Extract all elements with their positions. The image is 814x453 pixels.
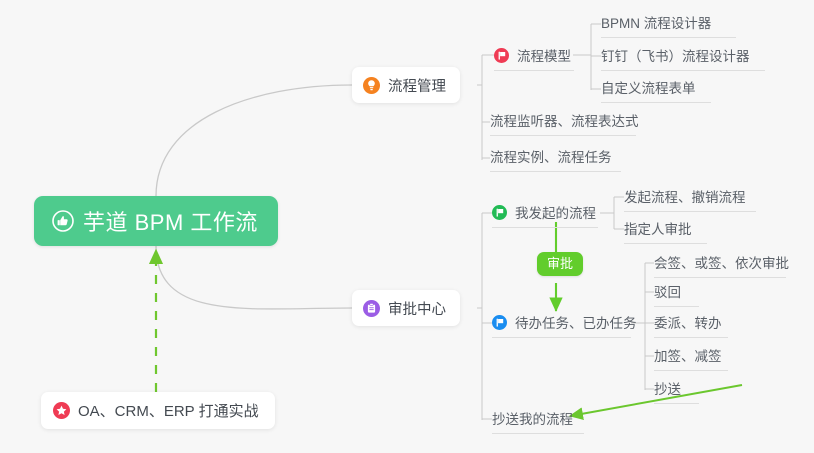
thumbs-up-icon [52,210,74,232]
leaf-label-countersign: 会签、或签、依次审批 [654,252,789,272]
leaf-process-model[interactable]: 流程模型 [494,45,574,71]
connector-root-to-process [156,85,352,196]
root-label: 芋道 BPM 工作流 [83,205,258,237]
leaf-carbon-copy[interactable]: 抄送 [654,378,699,404]
leaf-label-todo-done-tasks: 待办任务、已办任务 [515,312,637,332]
root-node[interactable]: 芋道 BPM 工作流 [34,196,278,246]
leaf-process-instance[interactable]: 流程实例、流程任务 [490,146,621,172]
annotation-approve-label: 审批 [537,252,583,276]
leaf-start-cancel-process[interactable]: 发起流程、撤销流程 [624,186,756,212]
leaf-label-my-initiated: 我发起的流程 [515,202,596,222]
branch-label-process-management: 流程管理 [388,75,446,96]
leaf-label-process-model: 流程模型 [517,45,571,65]
leaf-countersign[interactable]: 会签、或签、依次审批 [654,252,786,278]
leaf-label-assigned-approver: 指定人审批 [624,218,692,238]
leaf-my-initiated[interactable]: 我发起的流程 [492,202,598,228]
leaf-label-carbon-copy: 抄送 [654,378,681,398]
leaf-label-process-instance: 流程实例、流程任务 [490,146,612,166]
leaf-reject[interactable]: 驳回 [654,281,699,307]
flag-icon-blue [492,315,507,330]
branch-node-process-management[interactable]: 流程管理 [352,67,460,103]
leaf-label-dingtalk-designer: 钉钉（飞书）流程设计器 [601,45,750,65]
leaf-label-cc-to-me: 抄送我的流程 [492,408,573,428]
leaf-bpmn-designer[interactable]: BPMN 流程设计器 [601,12,736,38]
leaf-label-process-listener: 流程监听器、流程表达式 [490,110,639,130]
leaf-label-start-cancel-process: 发起流程、撤销流程 [624,186,746,206]
floating-label-integration-practice: OA、CRM、ERP 打通实战 [78,400,259,421]
leaf-label-custom-form: 自定义流程表单 [601,77,696,97]
star-icon [53,402,70,419]
branch-label-approval-center: 审批中心 [388,298,446,319]
leaf-custom-form[interactable]: 自定义流程表单 [601,77,711,103]
flag-icon-red [494,48,509,63]
annotation-approve-text: 审批 [547,256,573,271]
leaf-label-bpmn-designer: BPMN 流程设计器 [601,12,711,32]
leaf-label-reject: 驳回 [654,281,681,301]
leaf-label-add-remove-sign: 加签、减签 [654,345,722,365]
leaf-assigned-approver[interactable]: 指定人审批 [624,218,707,244]
clipboard-icon [363,300,380,317]
leaf-process-listener[interactable]: 流程监听器、流程表达式 [490,110,636,136]
branch-node-approval-center[interactable]: 审批中心 [352,290,460,326]
leaf-todo-done-tasks[interactable]: 待办任务、已办任务 [492,312,631,338]
lightbulb-icon [363,77,380,94]
flag-icon-green [492,205,507,220]
leaf-label-delegate-transfer: 委派、转办 [654,312,722,332]
leaf-cc-to-me[interactable]: 抄送我的流程 [492,408,584,434]
connector-root-to-approval [156,246,352,309]
leaf-add-remove-sign[interactable]: 加签、减签 [654,345,728,371]
leaf-delegate-transfer[interactable]: 委派、转办 [654,312,728,338]
leaf-dingtalk-designer[interactable]: 钉钉（飞书）流程设计器 [601,45,765,71]
floating-node-integration-practice[interactable]: OA、CRM、ERP 打通实战 [41,392,275,429]
